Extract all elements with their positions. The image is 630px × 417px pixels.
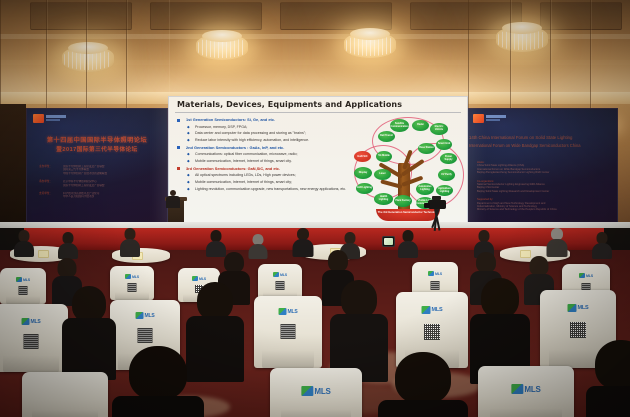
chair-cover: MLS [478,366,574,417]
isa-logo-icon [473,114,507,123]
chandelier [196,30,248,64]
audience-member [592,232,612,258]
mls-mark-icon [192,276,198,281]
mls-mark-icon [279,308,287,315]
chair-brand-text: MLS [199,277,206,281]
audience-member [586,340,630,417]
dash-icon: ◆ [187,180,190,185]
chair-qr-code [19,286,28,295]
chair-cover: MLS [0,268,46,304]
chair-qr-code [276,281,285,290]
audience-member [14,230,34,256]
audience-member [248,234,267,258]
entry-line: Ministry of Science and Technology of th… [477,208,613,211]
audience-member [120,228,140,256]
mls-mark-icon [421,306,430,314]
dash-icon: ◆ [187,173,190,178]
chair-brand-logo: MLS [16,277,30,282]
tree-caption: The 3rd Generation Semiconductor Technol… [376,209,440,214]
isa-logo-icon [33,114,67,123]
tree-leaf: Health Lighting [374,193,393,205]
chandelier [344,28,396,62]
chair-brand-logo: MLS [567,304,588,312]
chair-brand-text: MLS [431,307,442,313]
audience-member [62,286,116,378]
tree-leaf: Plant Factory [394,195,412,207]
chair-cover: MLS [258,264,302,300]
mls-mark-icon [301,386,313,396]
audience-member [112,346,204,417]
tree-leaf: UV Purify [438,169,455,181]
left-banner-entry: 支持单位： 科学技术部高新技术及产业化司 中华人民共和国科学技术部 [37,192,159,199]
chair-cover: MLS [270,368,362,417]
right-banner-title-line1: 14th China International Forum on Solid … [469,135,618,141]
mls-mark-icon [273,272,279,277]
chair-cover: MLS [110,266,154,300]
chair-brand-text: MLS [288,309,298,315]
chair-brand-text: MLS [435,272,442,276]
entry-key: 支持单位： [39,192,52,195]
tree-leaf: Automotive Lighting [416,183,434,195]
slide-sub-bullet: ◆ Mobile communication, Internet, Intern… [177,159,352,164]
chair-qr-code [24,334,39,349]
bullet-square-icon [177,146,180,149]
entry-key: 主办单位： [39,165,52,168]
tree-root-node: GaN SiC [354,151,371,162]
chair-brand-logo: MLS [279,308,298,315]
tree-leaf: LED Lighting [356,183,373,194]
chair-cover: MLS [254,296,322,368]
chair-brand-logo: MLS [125,274,139,279]
slide-sub-bullet: ◆ Processor, memory, DSP, FPGA; [177,125,352,130]
slide-bullet-list: 1st Generation Semiconductors: Si, Ge, a… [177,115,352,191]
chair-brand-logo: MLS [136,312,155,319]
dash-icon: ◆ [187,187,190,192]
audience-member [58,232,78,258]
tree-leaf: Smart Grid [436,139,452,150]
presenter-head [170,190,176,196]
chair-brand-text: MLS [314,387,330,396]
tree-leaf: Base Station [418,143,435,154]
dash-icon: ◆ [187,131,190,136]
chair-qr-code [138,328,153,343]
left-banner-entry: 承办单位： 北京中科半导体照明研究中心 国家半导体照明工程研发及产业联盟 [37,180,159,187]
entry-key: 承办单位： [39,180,52,183]
mls-mark-icon [511,384,523,394]
bullet-square-icon [177,167,180,170]
mls-mark-icon [16,277,22,282]
chair-cover: MLS [0,304,68,372]
mls-mark-icon [567,304,576,312]
chair-brand-text: MLS [23,278,30,282]
place-card [38,250,49,258]
slide-sub-bullet: ◆ Mobile communication, Internet, Intern… [177,180,352,185]
slide-title-rule [175,112,461,113]
camera-lens-icon [424,203,430,208]
mls-mark-icon [428,271,434,276]
chair-brand-logo: MLS [428,271,442,276]
slide-section-heading: 2nd Generation Semiconductors : GaAs, In… [177,145,352,150]
tree-leaf: Radar [412,120,429,131]
chair-brand-logo: MLS [273,272,287,277]
entry-line: 中华人民共和国科学技术部 [63,195,159,198]
left-banner-title-line1: 第十四届中国国际半导体照明论坛 [27,137,167,145]
tree-leaf: Power Supply [440,153,457,164]
right-banner-entry: Hosts: China Solid State Lighting Allian… [475,161,613,175]
chair-qr-code [128,283,137,292]
audience-member [292,228,313,256]
video-camera [428,200,446,209]
mls-mark-icon [22,318,30,325]
right-banner-title-line2: International Forum on Wide Bandgap Semi… [469,143,618,149]
right-banner-entry: Co-organizers: National Semiconductor Li… [475,180,613,194]
chair-qr-code [570,322,586,338]
tree-leaf: 5G Mobile [376,151,392,162]
presenter-body [166,196,180,208]
slide-sub-bullet: ◆ Communications: optical fiber communic… [177,152,352,157]
chair-brand-text: MLS [132,275,139,279]
chair-brand-logo: MLS [579,273,593,278]
chair-qr-code [281,324,296,339]
mls-mark-icon [125,274,131,279]
slide-sub-bullet: ◆ Lighting revolution, communication upg… [177,187,352,192]
chair-brand-text: MLS [586,274,593,278]
left-banner: 第十四届中国国际半导体照明论坛 暨2017国际第三代半导体论坛 主办单位： 国家… [26,108,168,232]
dash-icon: ◆ [187,125,190,130]
dash-icon: ◆ [187,159,190,164]
chair-brand-text: MLS [524,385,540,394]
left-banner-entry: 主办单位： 国家半导体照明工程研发及产业联盟 国际第三代半导体联盟 中国半导体照… [37,165,159,175]
chair-brand-text: MLS [145,313,155,319]
tree-leaf: Display [354,167,372,179]
slide-sub-bullet: ◆ All optical spectrums including LEDs, … [177,173,352,178]
entry-line: Beijing Zhongketiancheng Semiconductor L… [477,171,613,174]
tree-leaf: Rail Transit [378,131,395,142]
dash-icon: ◆ [187,138,190,143]
dash-icon: ◆ [187,152,190,157]
tree-leaf: Laser [374,169,391,180]
audience-member [398,230,418,257]
right-banner-entry: Supported by: Department of High and New… [475,198,613,212]
chair-brand-logo: MLS [421,306,442,314]
entry-line: 国家半导体照明工程研发及产业联盟 [63,184,159,187]
chair-cover [22,372,108,417]
tree-leaf: Satellite Communication [390,119,409,132]
chair-qr-code [431,281,440,290]
right-banner: 14th China International Forum on Solid … [466,108,618,232]
audience-member [378,352,468,417]
audience-member [546,228,567,256]
tree-leaf: Electric Vehicle [430,123,448,135]
chair-brand-logo: MLS [192,276,206,281]
chair-brand-logo: MLS [301,386,330,396]
chair-brand-text: MLS [280,273,287,277]
conference-hall-photo: 第十四届中国国际半导体照明论坛 暨2017国际第三代半导体论坛 主办单位： 国家… [0,0,630,417]
entry-line: Beijing Solid State Lighting Research an… [477,190,613,193]
slide-sub-bullet: ◆ Reduce labor intensity with high effic… [177,138,352,143]
smartphone [382,236,395,247]
slide-sub-bullet: ◆ Data center and computer for data proc… [177,131,352,136]
chair-qr-code [424,324,440,340]
presentation-slide: Materials, Devices, Equipments and Appli… [169,97,467,227]
mls-mark-icon [136,312,144,319]
projection-screen: Materials, Devices, Equipments and Appli… [168,96,468,228]
chair-brand-text: MLS [577,305,588,311]
tree-leaf: Agriculture Lighting [436,185,453,196]
entry-line: 中国半导体照明产业技术创新战略联盟 [63,172,159,175]
slide-section-heading: 3rd Generation Semiconductors: GaN,SiC, … [177,166,352,171]
slide-title: Materials, Devices, Equipments and Appli… [177,100,402,109]
mls-mark-icon [579,273,585,278]
slide-section-heading: 1st Generation Semiconductors: Si, Ge, a… [177,117,352,122]
chair-brand-logo: MLS [22,318,41,325]
left-banner-title-line2: 暨2017国际第三代半导体论坛 [27,147,167,154]
chair-brand-logo: MLS [511,384,540,394]
semiconductor-tree-diagram: GaN SiC Satellite Communication Radar El… [352,117,464,223]
bullet-square-icon [177,119,180,122]
chair-brand-text: MLS [31,319,41,325]
